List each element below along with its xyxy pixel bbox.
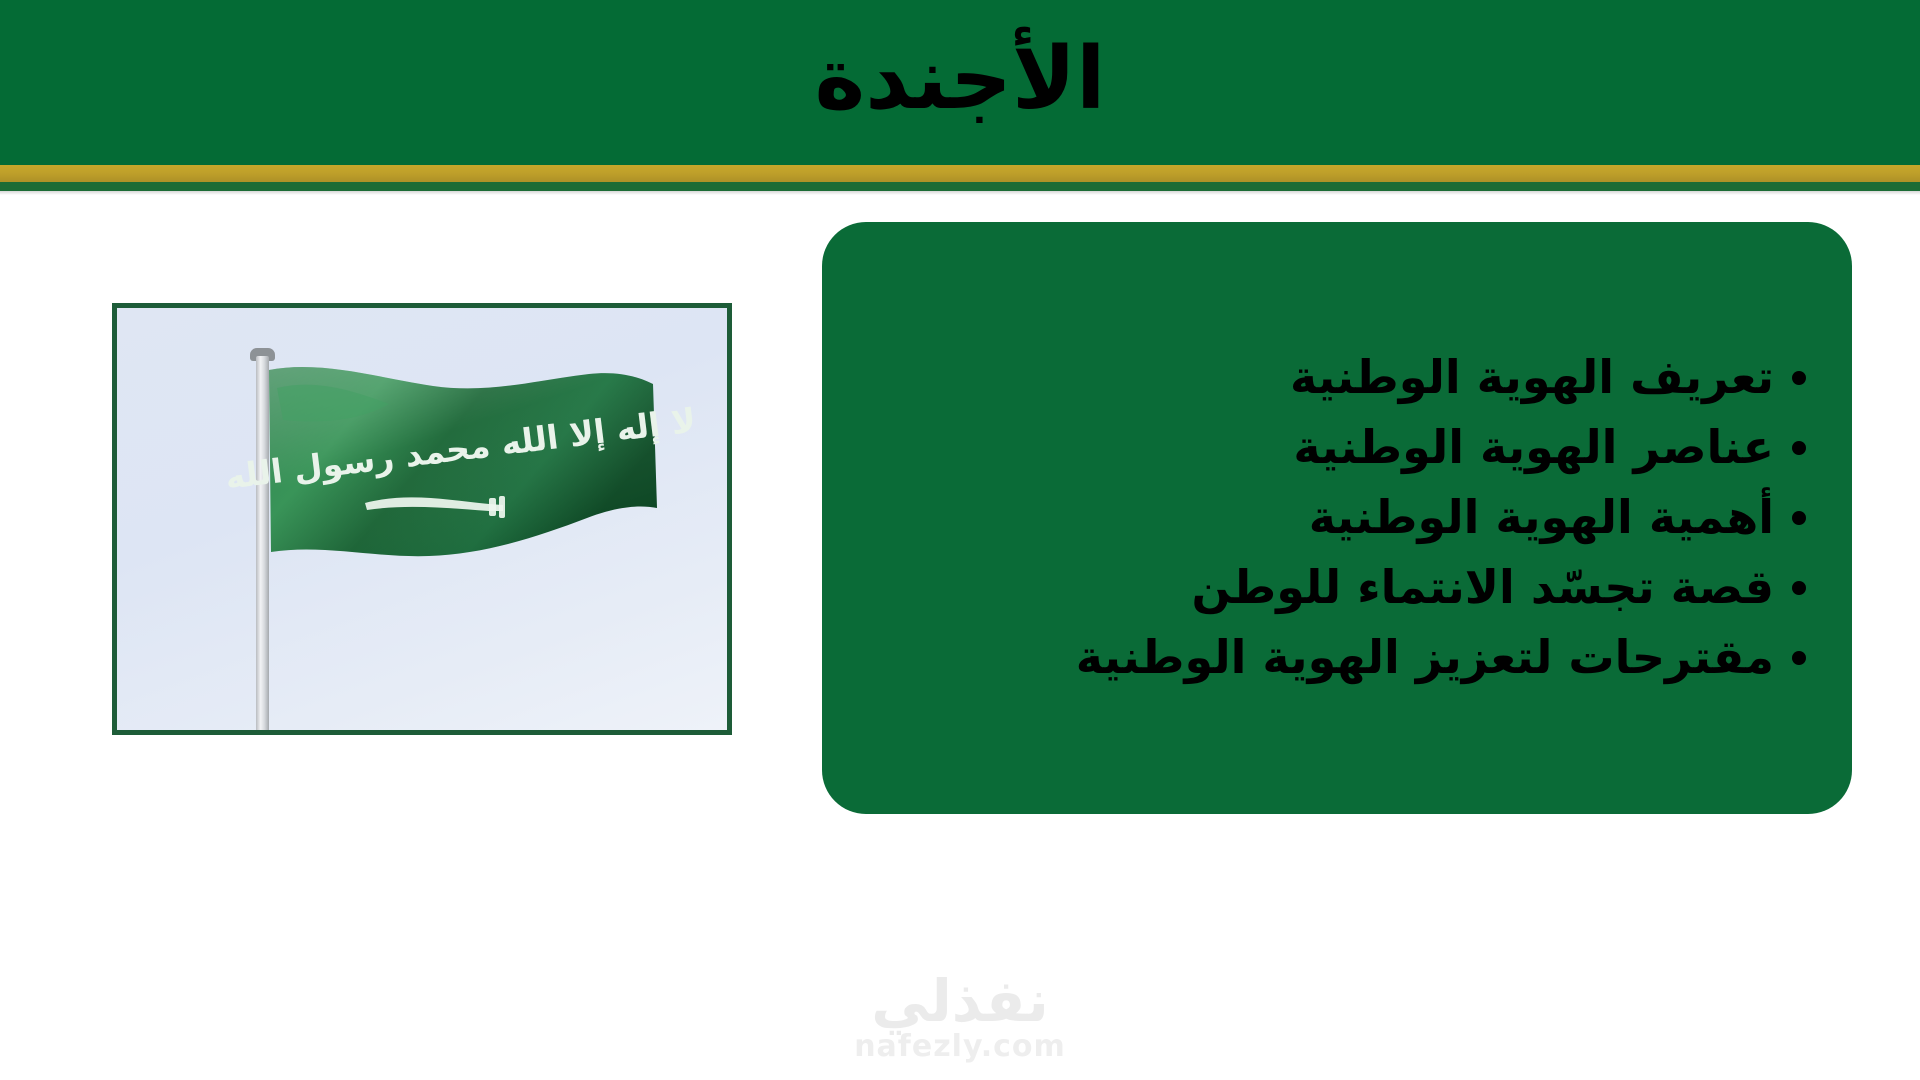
bullet-dot-icon	[1792, 371, 1806, 385]
list-item[interactable]: أهمية الهوية الوطنية	[862, 483, 1806, 553]
saudi-flag-icon: لا إله إلا الله محمد رسول الله	[117, 308, 727, 730]
page-title: الأجندة	[814, 36, 1105, 122]
watermark-latin: nafezly.com	[854, 1032, 1066, 1062]
agenda-item-label: قصة تجسّد الانتماء للوطن	[1191, 553, 1774, 623]
bullet-dot-icon	[1792, 441, 1806, 455]
bullet-dot-icon	[1792, 581, 1806, 595]
agenda-list: تعريف الهوية الوطنية عناصر الهوية الوطني…	[862, 343, 1806, 693]
bullet-dot-icon	[1792, 651, 1806, 665]
watermark: نفذلي nafezly.com	[0, 972, 1920, 1062]
divider-shadow	[0, 191, 1920, 195]
flag-photo: لا إله إلا الله محمد رسول الله	[112, 303, 732, 735]
slide-canvas: الأجندة	[0, 0, 1920, 1080]
agenda-item-label: أهمية الهوية الوطنية	[1309, 483, 1774, 553]
list-item[interactable]: عناصر الهوية الوطنية	[862, 413, 1806, 483]
gold-divider	[0, 165, 1920, 182]
watermark-arabic: نفذلي	[871, 972, 1048, 1030]
agenda-item-label: عناصر الهوية الوطنية	[1293, 413, 1774, 483]
bullet-dot-icon	[1792, 511, 1806, 525]
list-item[interactable]: قصة تجسّد الانتماء للوطن	[862, 553, 1806, 623]
agenda-item-label: مقترحات لتعزيز الهوية الوطنية	[1076, 623, 1774, 693]
agenda-card: تعريف الهوية الوطنية عناصر الهوية الوطني…	[822, 222, 1852, 814]
green-divider	[0, 182, 1920, 191]
agenda-item-label: تعريف الهوية الوطنية	[1290, 343, 1774, 413]
list-item[interactable]: تعريف الهوية الوطنية	[862, 343, 1806, 413]
list-item[interactable]: مقترحات لتعزيز الهوية الوطنية	[862, 623, 1806, 693]
slide-header: الأجندة	[0, 0, 1920, 165]
